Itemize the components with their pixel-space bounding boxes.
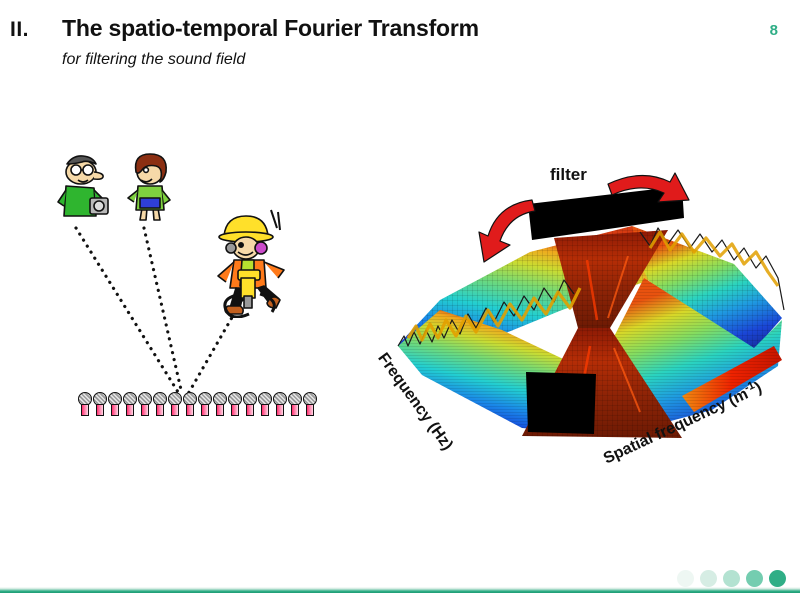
microphone-body <box>291 404 299 416</box>
slide: II. The spatio-temporal Fourier Transfor… <box>0 0 800 599</box>
page-subtitle: for filtering the sound field <box>62 51 245 69</box>
microphone <box>168 392 182 416</box>
microphone <box>273 392 287 416</box>
microphone <box>213 392 227 416</box>
progress-dot-5 <box>769 570 786 587</box>
microphone-body <box>171 404 179 416</box>
microphone-body <box>96 404 104 416</box>
microphone <box>228 392 242 416</box>
microphone <box>243 392 257 416</box>
microphone <box>258 392 272 416</box>
microphone-body <box>216 404 224 416</box>
microphone <box>123 392 137 416</box>
spatiotemporal-spectrum-plot: filter Frequency (Hz) Spatial frequency … <box>382 160 794 470</box>
talking-man-figure <box>50 150 114 222</box>
microphone <box>303 392 317 416</box>
surface-plot-canvas <box>382 160 794 470</box>
microphone <box>153 392 167 416</box>
microphone <box>93 392 107 416</box>
progress-dots <box>677 570 786 587</box>
sound-field-illustration <box>40 150 340 420</box>
microphone-body <box>261 404 269 416</box>
microphone <box>198 392 212 416</box>
microphone-body <box>81 404 89 416</box>
microphone <box>108 392 122 416</box>
microphone <box>288 392 302 416</box>
filter-label: filter <box>550 165 587 185</box>
jackhammer-worker-figure <box>208 208 308 318</box>
microphone-body <box>231 404 239 416</box>
microphone <box>183 392 197 416</box>
microphone-array <box>78 392 317 416</box>
microphone-body <box>156 404 164 416</box>
progress-dot-1 <box>677 570 694 587</box>
microphone-body <box>246 404 254 416</box>
filter-arrow-left <box>479 200 535 262</box>
microphone-body <box>111 404 119 416</box>
microphone <box>138 392 152 416</box>
progress-dot-2 <box>700 570 717 587</box>
footer-accent-bar <box>0 587 800 593</box>
microphone-body <box>141 404 149 416</box>
progress-dot-3 <box>723 570 740 587</box>
microphone-body <box>306 404 314 416</box>
page-number: 8 <box>770 22 778 39</box>
microphone <box>78 392 92 416</box>
microphone-body <box>201 404 209 416</box>
talking-woman-figure <box>122 150 178 224</box>
microphone-body <box>186 404 194 416</box>
microphone-body <box>126 404 134 416</box>
microphone-body <box>276 404 284 416</box>
page-title: The spatio-temporal Fourier Transform <box>62 15 479 42</box>
section-number: II. <box>10 18 29 42</box>
progress-dot-4 <box>746 570 763 587</box>
